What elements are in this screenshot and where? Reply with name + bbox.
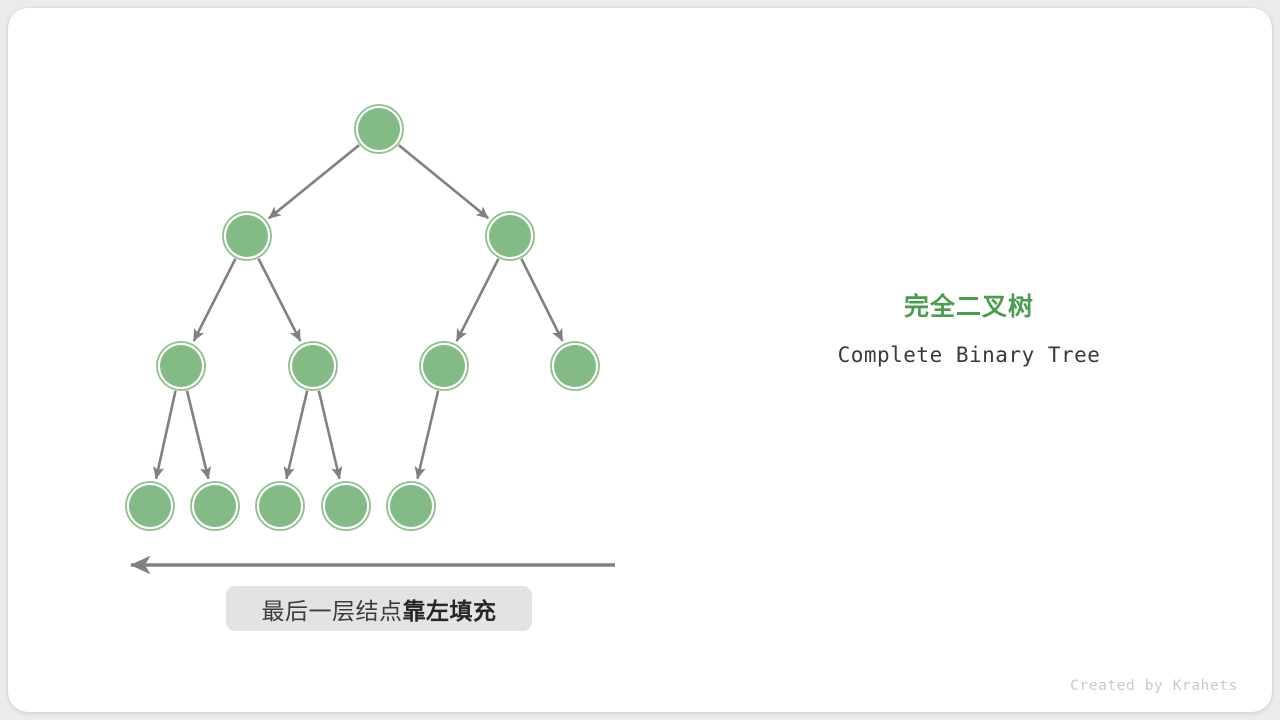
diagram-title-en: Complete Binary Tree bbox=[760, 343, 1178, 368]
screenshot-root: 完全二叉树 Complete Binary Tree 最后一层结点靠左填充 Cr… bbox=[0, 0, 1280, 720]
caption-text-bold: 靠左填充 bbox=[403, 598, 497, 624]
caption-badge: 最后一层结点靠左填充 bbox=[226, 586, 532, 631]
tree-node-n2 bbox=[223, 212, 271, 260]
tree-edge-n5-n10 bbox=[286, 391, 307, 479]
tree-node-n9 bbox=[191, 482, 239, 530]
tree-node-layer bbox=[126, 105, 599, 530]
tree-edge-n5-n11 bbox=[319, 391, 340, 479]
tree-node-n1 bbox=[355, 105, 403, 153]
tree-edge-n1-n3 bbox=[399, 145, 489, 218]
tree-edge-n1-n2 bbox=[269, 145, 359, 218]
tree-node-n3 bbox=[486, 212, 534, 260]
tree-node-n10 bbox=[256, 482, 304, 530]
tree-node-n12 bbox=[387, 482, 435, 530]
tree-node-n11 bbox=[322, 482, 370, 530]
tree-edge-n3-n7 bbox=[521, 259, 562, 341]
tree-edge-n4-n8 bbox=[156, 391, 175, 479]
tree-edge-n3-n6 bbox=[457, 259, 499, 341]
diagram-title-cn: 完全二叉树 bbox=[760, 292, 1178, 322]
tree-node-n7 bbox=[551, 342, 599, 390]
tree-node-n8 bbox=[126, 482, 174, 530]
legend-block: 完全二叉树 Complete Binary Tree bbox=[760, 292, 1178, 368]
caption-text: 最后一层结点靠左填充 bbox=[262, 592, 497, 626]
credit-text: Created by Krahets bbox=[1070, 678, 1238, 694]
caption-text-plain: 最后一层结点 bbox=[262, 598, 403, 624]
tree-edge-n6-n12 bbox=[417, 391, 438, 479]
tree-edge-n2-n5 bbox=[259, 259, 301, 341]
tree-node-n4 bbox=[157, 342, 205, 390]
tree-edge-n2-n4 bbox=[194, 259, 236, 341]
tree-edge-n4-n9 bbox=[187, 391, 208, 479]
tree-edge-layer bbox=[156, 145, 562, 479]
tree-node-n6 bbox=[420, 342, 468, 390]
tree-node-n5 bbox=[289, 342, 337, 390]
